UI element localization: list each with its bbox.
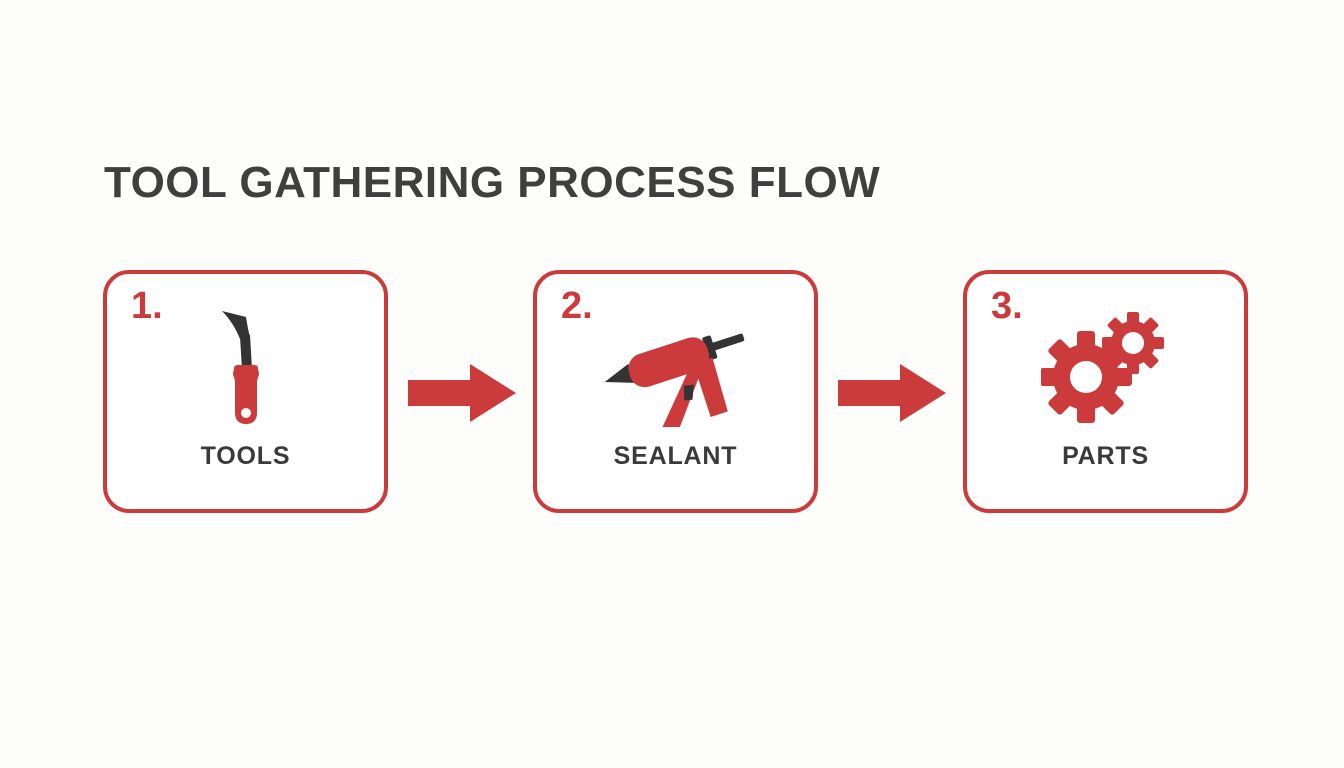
- caulk-gun-icon: [537, 302, 814, 432]
- diagram-canvas: TOOL GATHERING PROCESS FLOW 1. TOOLS 2.: [0, 0, 1344, 768]
- flow-arrow-tools-to-sealant: [408, 362, 516, 424]
- process-step-card-sealant[interactable]: 2.: [533, 270, 818, 513]
- step-label: TOOLS: [107, 442, 384, 471]
- process-step-card-tools[interactable]: 1. TOOLS: [103, 270, 388, 513]
- step-label: SEALANT: [537, 442, 814, 471]
- process-step-card-parts[interactable]: 3.: [963, 270, 1248, 513]
- step-label: PARTS: [967, 442, 1244, 471]
- page-title: TOOL GATHERING PROCESS FLOW: [104, 158, 880, 208]
- gears-icon: [967, 302, 1244, 432]
- hook-pick-tool-icon: [107, 302, 384, 432]
- flow-arrow-sealant-to-parts: [838, 362, 946, 424]
